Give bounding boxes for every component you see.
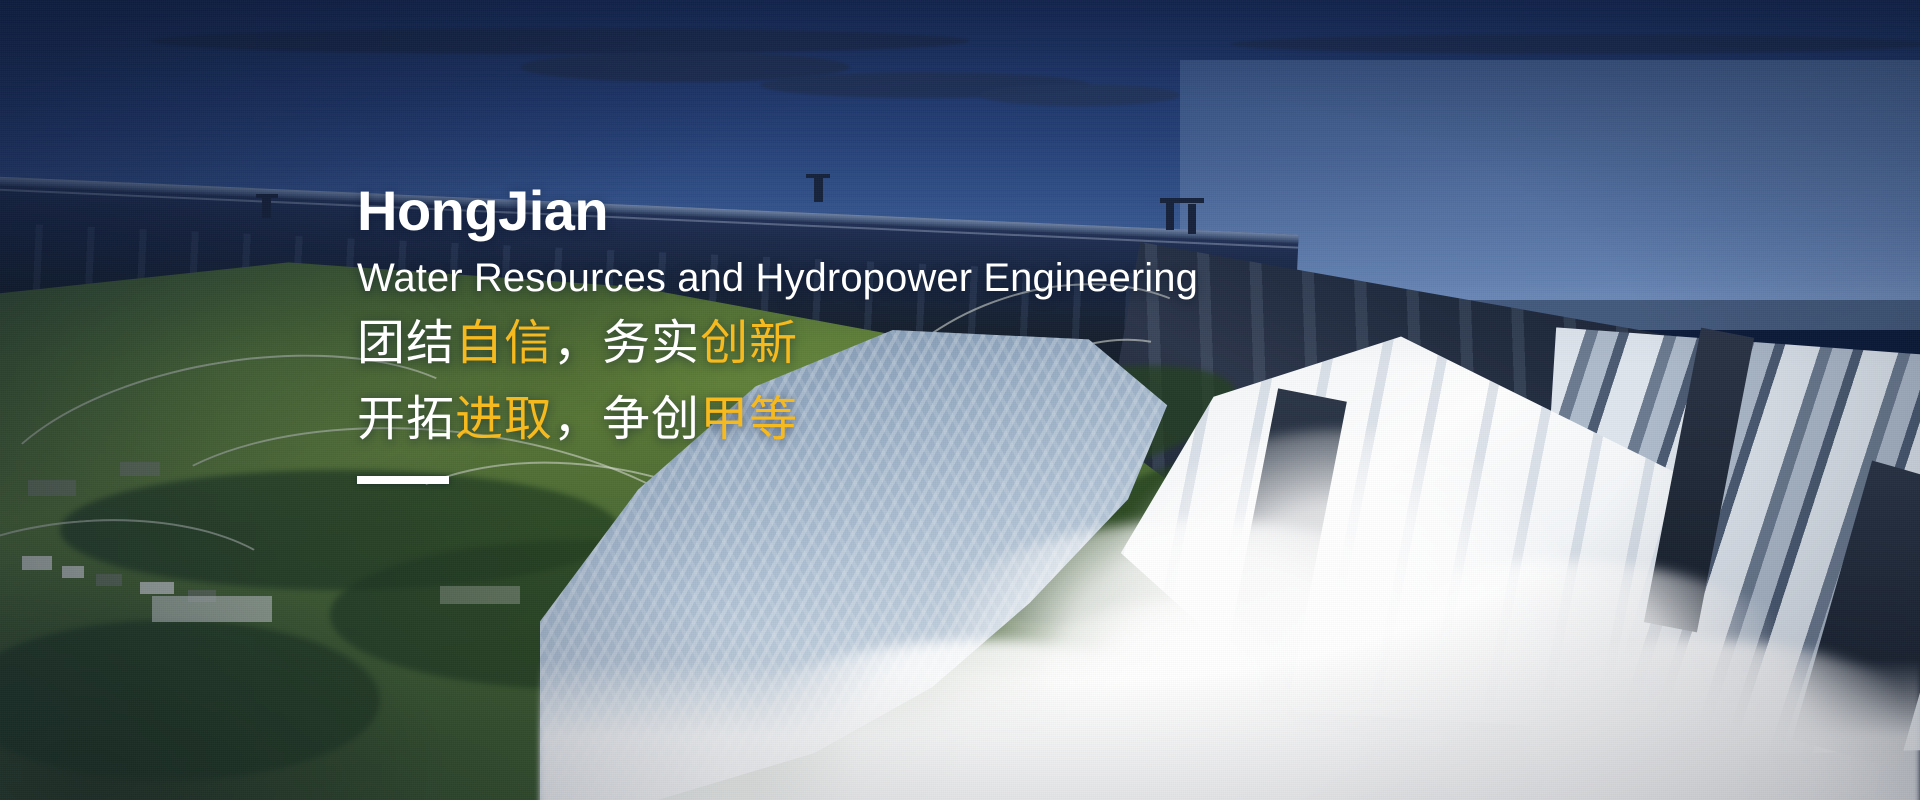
building	[140, 582, 174, 594]
chinese-slogan-line-2: 开拓进取，争创甲等	[357, 387, 1477, 453]
slogan-segment: 团结	[357, 317, 455, 370]
building	[152, 596, 272, 622]
slogan-segment-highlight: 创新	[700, 317, 798, 370]
gantry-tower	[806, 174, 830, 178]
far-shoreline	[980, 84, 1180, 106]
accent-underline	[357, 476, 449, 484]
gantry-tower	[256, 194, 278, 198]
chinese-slogan-line-1: 团结自信，务实创新	[357, 311, 1477, 377]
slogan-segment-highlight: 自信	[455, 317, 553, 370]
building	[96, 574, 122, 586]
slogan-segment: 开拓	[357, 393, 455, 446]
building	[62, 566, 84, 578]
building	[28, 480, 76, 496]
brand-title: HongJian	[357, 182, 1477, 240]
slogan-segment: 争创	[602, 393, 700, 446]
slogan-comma: ，	[553, 317, 602, 370]
slogan-segment-highlight: 进取	[455, 393, 553, 446]
building	[120, 462, 160, 476]
building	[440, 586, 520, 604]
hero-banner: HongJian Water Resources and Hydropower …	[0, 0, 1920, 800]
slogan-segment-highlight: 甲等	[700, 393, 798, 446]
hero-text-overlay: HongJian Water Resources and Hydropower …	[357, 182, 1477, 484]
slogan-segment: 务实	[602, 317, 700, 370]
slogan-comma: ，	[553, 393, 602, 446]
downstream-foam	[540, 660, 1920, 800]
english-tagline: Water Resources and Hydropower Engineeri…	[357, 256, 1477, 301]
far-shoreline	[150, 28, 970, 54]
building	[22, 556, 52, 570]
gantry-tower	[262, 196, 271, 218]
far-shoreline	[1230, 34, 1920, 54]
